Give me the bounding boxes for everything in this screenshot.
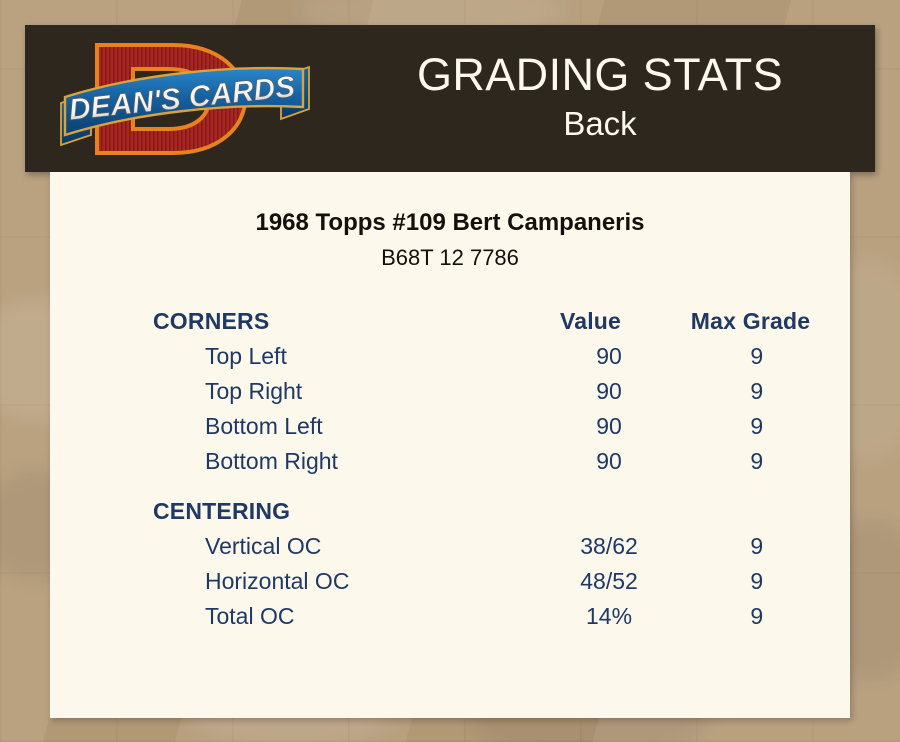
page-title: GRADING STATS — [417, 52, 783, 99]
row-label: Top Left — [153, 343, 537, 370]
content-panel: 1968 Topps #109 Bert Campaneris B68T 12 … — [50, 172, 850, 718]
row-max-grade: 9 — [681, 533, 833, 560]
row-value: 90 — [537, 413, 680, 440]
table-row: Bottom Left 90 9 — [153, 413, 833, 448]
header-bar: DEAN'S CARDS GRADING STATS Back — [25, 25, 875, 172]
card-identifier: B68T 12 7786 — [50, 245, 850, 271]
row-max-grade: 9 — [681, 603, 833, 630]
row-label: Total OC — [153, 603, 537, 630]
header-title-group: GRADING STATS Back — [325, 25, 875, 172]
table-row: Total OC 14% 9 — [153, 603, 833, 638]
row-label: Vertical OC — [153, 533, 537, 560]
grading-stats-table: CORNERS Value Max Grade Top Left 90 9 To… — [153, 308, 833, 638]
row-max-grade: 9 — [681, 378, 833, 405]
row-label: Top Right — [153, 378, 537, 405]
table-row: Top Left 90 9 — [153, 343, 833, 378]
table-header-row: CORNERS Value Max Grade — [153, 308, 833, 343]
logo-graphic: DEAN'S CARDS — [45, 29, 325, 169]
card-title: 1968 Topps #109 Bert Campaneris — [50, 209, 850, 237]
column-header-max-grade: Max Grade — [668, 308, 833, 335]
table-row: Top Right 90 9 — [153, 378, 833, 413]
deans-cards-logo[interactable]: DEAN'S CARDS — [45, 29, 325, 169]
row-max-grade: 9 — [681, 413, 833, 440]
row-label: Horizontal OC — [153, 568, 537, 595]
row-value: 90 — [537, 378, 680, 405]
row-value: 90 — [537, 343, 680, 370]
page-subtitle: Back — [563, 103, 636, 144]
table-row: Bottom Right 90 9 — [153, 448, 833, 483]
column-header-value: Value — [513, 308, 668, 335]
table-row: Horizontal OC 48/52 9 — [153, 568, 833, 603]
row-value: 90 — [537, 448, 680, 475]
row-value: 48/52 — [537, 568, 680, 595]
row-max-grade: 9 — [681, 568, 833, 595]
row-value: 14% — [537, 603, 680, 630]
row-max-grade: 9 — [681, 448, 833, 475]
section-header-row: CENTERING — [153, 498, 833, 533]
section-spacer — [153, 483, 833, 498]
section-title-centering: CENTERING — [153, 498, 513, 525]
table-row: Vertical OC 38/62 9 — [153, 533, 833, 568]
section-title-corners: CORNERS — [153, 308, 513, 335]
row-label: Bottom Left — [153, 413, 537, 440]
row-max-grade: 9 — [681, 343, 833, 370]
row-value: 38/62 — [537, 533, 680, 560]
row-label: Bottom Right — [153, 448, 537, 475]
